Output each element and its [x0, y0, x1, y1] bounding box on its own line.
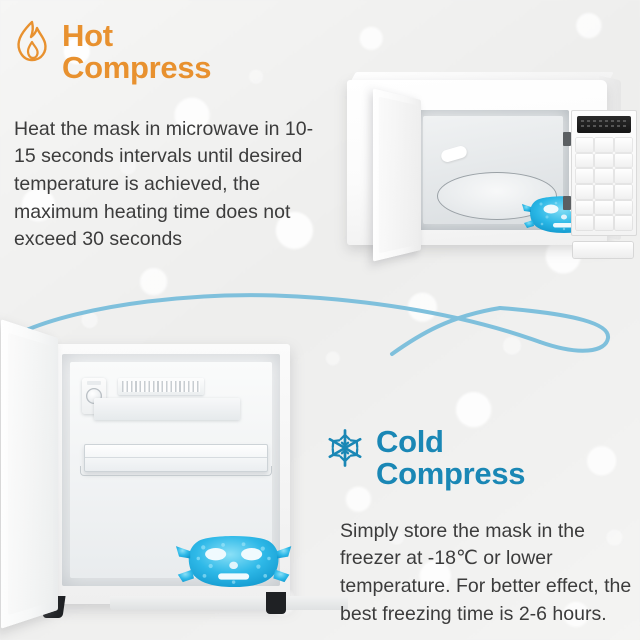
keypad-key[interactable]: [615, 154, 632, 168]
keypad-key[interactable]: [595, 138, 612, 152]
keypad-key[interactable]: [576, 138, 593, 152]
keypad-key[interactable]: [595, 185, 612, 199]
hot-compress-description: Heat the mask in microwave in 10-15 seco…: [14, 116, 314, 254]
keypad-key[interactable]: [615, 201, 632, 215]
keypad-key[interactable]: [615, 138, 632, 152]
snowflake-icon: [324, 424, 366, 477]
keypad-key[interactable]: [615, 216, 632, 230]
keypad-key[interactable]: [576, 216, 593, 230]
microwave-door-inner: [379, 97, 417, 254]
vent-slats: [122, 381, 200, 392]
cold-compress-heading: Cold Compress: [324, 424, 525, 489]
cold-compress-description: Simply store the mask in the freezer at …: [340, 518, 632, 629]
freezer-base: [110, 596, 348, 610]
thermostat-label: [87, 381, 101, 385]
cold-compress-heading-text: Cold Compress: [376, 426, 525, 489]
microwave-door-latch-bottom: [563, 196, 571, 210]
keypad-key[interactable]: [615, 169, 632, 183]
microwave-photo: [307, 66, 627, 266]
freezer-body: [52, 344, 290, 604]
microwave-display: [577, 116, 631, 133]
microwave-door[interactable]: [373, 88, 421, 261]
keypad-key[interactable]: [576, 201, 593, 215]
microwave-body: [347, 80, 607, 245]
keypad-key[interactable]: [595, 169, 612, 183]
hot-heading-line-2: Compress: [62, 50, 211, 85]
keypad-key[interactable]: [615, 185, 632, 199]
flame-icon: [12, 18, 52, 71]
microwave-cavity-inner: [423, 116, 563, 224]
keypad-key[interactable]: [576, 154, 593, 168]
keypad-key[interactable]: [595, 154, 612, 168]
hot-compress-heading-text: Hot Compress: [62, 20, 211, 83]
keypad-key[interactable]: [595, 216, 612, 230]
keypad-key[interactable]: [576, 185, 593, 199]
freezer-photo: [0, 334, 314, 640]
gel-mask-in-freezer: [170, 530, 296, 592]
hot-compress-heading: Hot Compress: [12, 18, 211, 83]
freezer-liner: [70, 362, 272, 578]
freezer-foot-right: [266, 592, 286, 614]
freezer-door[interactable]: [1, 319, 58, 629]
keypad-key[interactable]: [576, 169, 593, 183]
infographic-canvas: Hot Compress Heat the mask in microwave …: [0, 0, 640, 640]
microwave-stirrer: [440, 145, 468, 164]
microwave-door-latch-top: [563, 132, 571, 146]
display-segment-row-1: [581, 120, 627, 122]
freezer-vent-grille: [118, 378, 204, 395]
freezer-door-inner-panel: [8, 333, 53, 615]
freezer-evaporator-plate: [94, 398, 240, 420]
microwave-control-panel[interactable]: [571, 110, 637, 236]
microwave-cavity: [417, 110, 569, 230]
microwave-keypad[interactable]: [576, 138, 632, 230]
cold-heading-line-2: Compress: [376, 456, 525, 491]
display-segment-row-2: [581, 125, 627, 127]
hot-heading-line-1: Hot: [62, 18, 113, 53]
freezer-shelf-support: [80, 466, 272, 476]
microwave-door-handle[interactable]: [573, 242, 633, 258]
cold-heading-line-1: Cold: [376, 424, 444, 459]
freezer-cavity: [62, 354, 280, 586]
shelf-edge: [85, 457, 267, 458]
keypad-key[interactable]: [595, 201, 612, 215]
